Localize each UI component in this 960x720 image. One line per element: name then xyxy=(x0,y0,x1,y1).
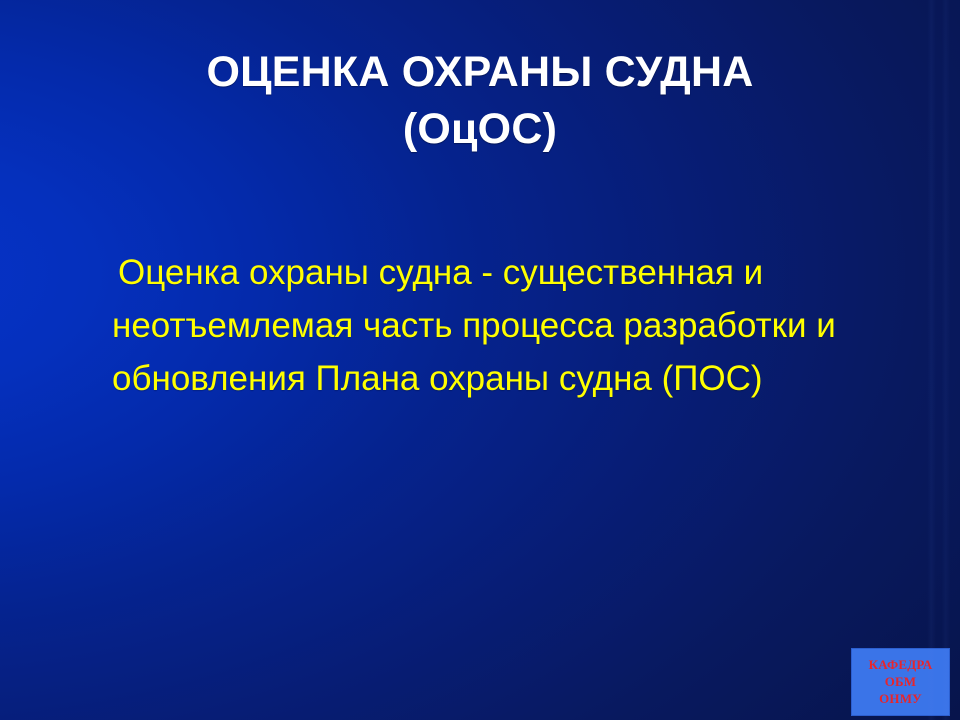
presentation-slide: ОЦЕНКА ОХРАНЫ СУДНА (ОцОС) Оценка охраны… xyxy=(0,0,960,720)
slide-title: ОЦЕНКА ОХРАНЫ СУДНА (ОцОС) xyxy=(60,44,900,158)
badge-line-kafedra: КАФЕДРА xyxy=(869,657,933,673)
slide-body-text: Оценка охраны судна - существенная и нео… xyxy=(112,246,902,405)
department-badge: КАФЕДРА ОБМ ОНМУ xyxy=(851,648,950,716)
badge-line-onmu: ОНМУ xyxy=(879,691,922,707)
badge-line-obm: ОБМ xyxy=(885,674,917,690)
